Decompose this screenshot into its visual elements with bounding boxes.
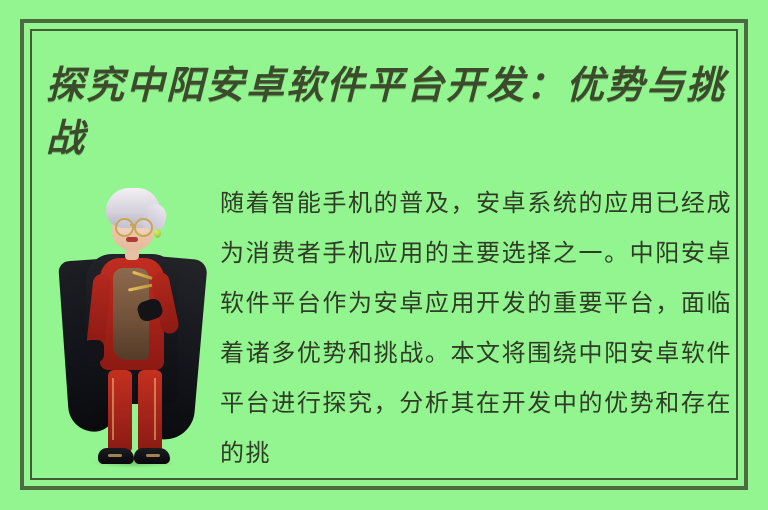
glasses-right-lens-icon <box>134 218 153 237</box>
right-trouser-seam-shape <box>154 378 156 440</box>
right-shoe-highlight-shape <box>146 454 160 457</box>
earring-shape <box>154 229 161 238</box>
lips-shape <box>126 237 138 242</box>
glasses-bridge-shape <box>130 224 135 226</box>
right-trouser-leg-shape <box>138 370 162 452</box>
article-card: 探究中阳安卓软件平台开发：优势与挑战 随着智能手机的普及，安卓系统的应用已经成为 <box>0 0 768 510</box>
page-title: 探究中阳安卓软件平台开发：优势与挑战 <box>46 58 746 164</box>
left-trouser-seam-shape <box>112 378 114 440</box>
left-glove-shape <box>84 340 104 362</box>
character-illustration <box>58 182 206 474</box>
glasses-left-lens-icon <box>115 218 134 237</box>
article-body: 随着智能手机的普及，安卓系统的应用已经成为消费者手机应用的主要选择之一。中阳安卓… <box>220 178 732 490</box>
left-shoe-highlight-shape <box>108 454 122 457</box>
